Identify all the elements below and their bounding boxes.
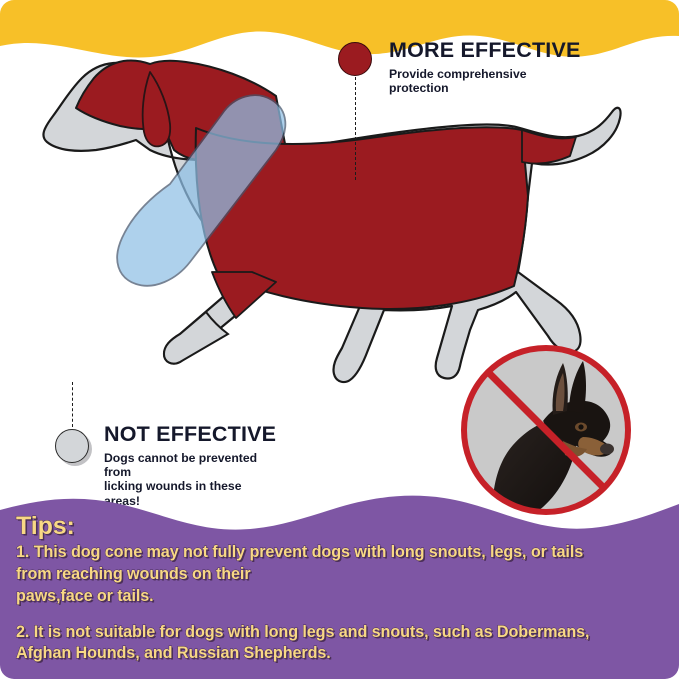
- not-effective-title: NOT EFFECTIVE: [104, 424, 276, 446]
- tips-item-1-line-1: 1. This dog cone may not fully prevent d…: [16, 543, 665, 563]
- product-infographic-poster: MORE EFFECTIVE Provide comprehensive pro…: [0, 0, 679, 679]
- tips-item-1: 1. This dog cone may not fully prevent d…: [14, 543, 665, 606]
- tips-item-1-line-3: paws,face or tails.: [16, 587, 665, 607]
- tips-heading: Tips:: [16, 513, 665, 539]
- more-effective-marker-dot: [338, 42, 372, 76]
- not-effective-marker-dot: [55, 429, 89, 463]
- more-effective-title: MORE EFFECTIVE: [389, 40, 581, 62]
- more-effective-subtitle: Provide comprehensive protection: [389, 67, 581, 96]
- leader-line-more-effective: [355, 72, 356, 180]
- tips-item-2: 2. It is not suitable for dogs with long…: [14, 623, 665, 665]
- leader-line-not-effective: [72, 382, 73, 427]
- tips-panel: Tips: 1. This dog cone may not fully pre…: [0, 505, 679, 679]
- tips-item-2-line-2: Afghan Hounds, and Russian Shepherds.: [16, 644, 665, 664]
- tips-item-1-line-2: from reaching wounds on their: [16, 565, 665, 585]
- tips-item-2-line-1: 2. It is not suitable for dogs with long…: [16, 623, 665, 643]
- not-effective-subtitle-line-1: Dogs cannot be prevented from: [104, 451, 276, 480]
